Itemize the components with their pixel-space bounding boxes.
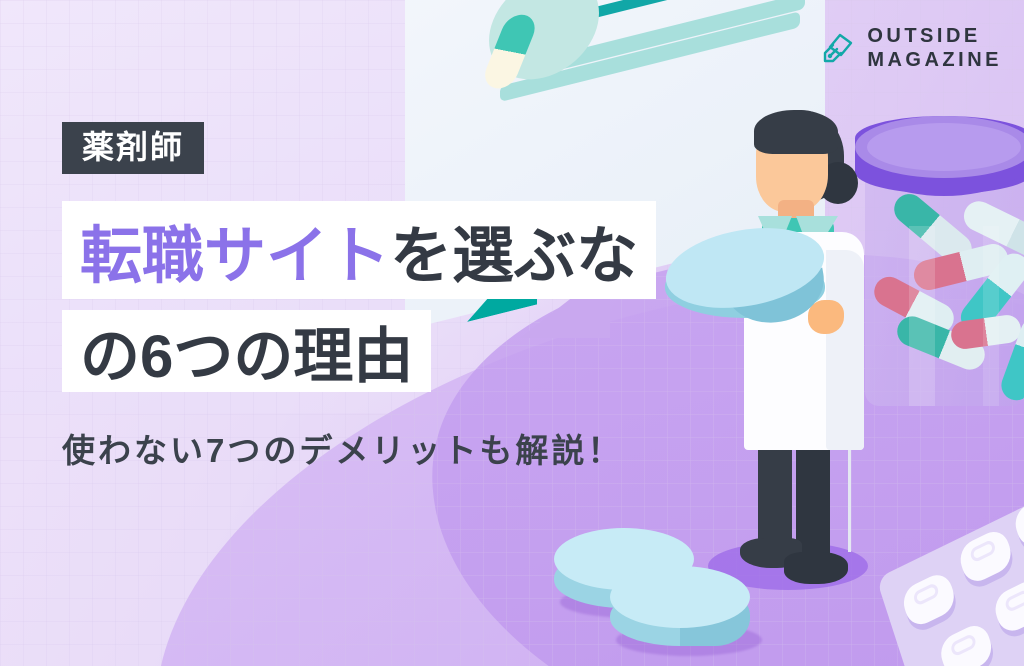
- blister-cell: [956, 526, 1015, 587]
- shoe-right: [784, 552, 848, 584]
- blister-cell-ring: [950, 633, 978, 658]
- blister-cell-ring: [912, 582, 940, 607]
- blister-pack-plate: [876, 495, 1024, 666]
- held-tablet: [665, 230, 840, 340]
- headline-line-1: 転職サイトを選ぶな: [62, 201, 656, 299]
- hero-banner: OUTSIDE MAGAZINE 薬剤師 転職サイトを選ぶな の6つの理由 使わ…: [0, 0, 1024, 666]
- blister-cell: [991, 576, 1024, 637]
- bottle-highlight: [909, 226, 935, 406]
- brand-logo-text: OUTSIDE MAGAZINE: [867, 24, 1002, 73]
- headline-rest-text: を選ぶな: [390, 205, 638, 295]
- headline-accent-text: 転職サイト: [80, 205, 390, 295]
- headline-line-2: の6つの理由: [62, 310, 431, 392]
- brand-line-1: OUTSIDE: [867, 25, 980, 47]
- blister-cell-ring: [969, 539, 997, 564]
- hero-subtitle: 使わない7つのデメリットも解説！: [62, 424, 623, 472]
- pharmacist-figure: [700, 100, 910, 610]
- brand-line-2: MAGAZINE: [867, 49, 1002, 71]
- blister-pack: [890, 520, 1024, 666]
- tag-pen-icon: [821, 31, 855, 65]
- hair-front: [754, 110, 838, 154]
- blister-cell: [937, 620, 996, 666]
- category-badge: 薬剤師: [62, 122, 204, 174]
- bottle-highlight: [983, 226, 999, 406]
- tablet-top: [610, 566, 750, 628]
- brand-logo[interactable]: OUTSIDE MAGAZINE: [821, 24, 1002, 73]
- round-tablet: [608, 566, 758, 666]
- blister-cell: [899, 569, 958, 630]
- blister-cell-ring: [1004, 588, 1024, 613]
